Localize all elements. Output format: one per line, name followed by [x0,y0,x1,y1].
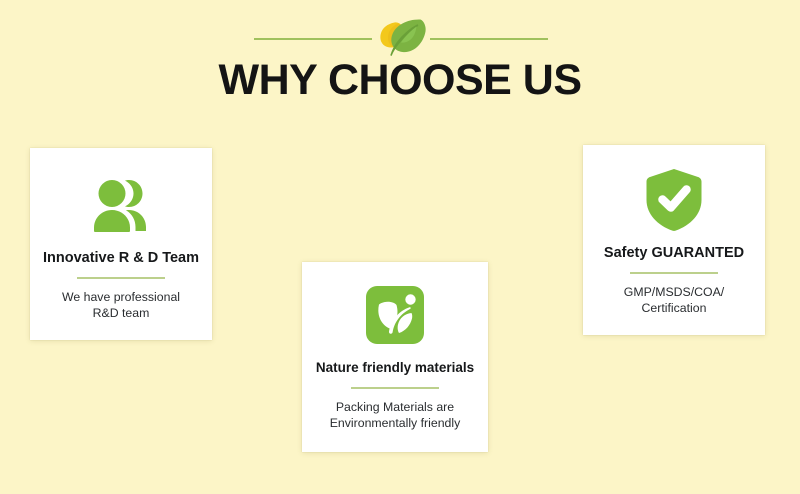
section-ornament [0,14,800,60]
feature-card-innovative-rd-team[interactable]: Innovative R & D Team We have profession… [30,148,212,340]
feature-card-nature-friendly-materials[interactable]: Nature friendly materials Packing Materi… [302,262,488,452]
card-title: Innovative R & D Team [43,249,199,267]
card-title: Nature friendly materials [316,359,474,377]
ornament-line-left [254,38,372,40]
card-description-line: GMP/MSDS/COA/ [624,284,724,300]
card-description: Packing Materials are Environmentally fr… [320,399,471,431]
leaf-ornament-icon [364,14,438,60]
card-divider [351,387,439,389]
card-divider [77,277,165,279]
page-title: WHY CHOOSE US [0,57,800,103]
card-description-line: Certification [624,300,724,316]
shield-check-icon [642,169,706,231]
card-description: We have professional R&D team [52,289,190,321]
feature-card-safety-guaranted[interactable]: Safety GUARANTED GMP/MSDS/COA/ Certifica… [583,145,765,335]
card-description-line: Environmentally friendly [330,415,461,431]
card-title: Safety GUARANTED [604,244,744,262]
card-description-line: Packing Materials are [330,399,461,415]
leaf-eco-icon [366,284,424,346]
why-choose-us-section: WHY CHOOSE US Innovative R & D Team We h… [0,0,800,494]
team-people-icon [85,174,157,236]
card-description-line: R&D team [62,305,180,321]
ornament-line-right [430,38,548,40]
card-description: GMP/MSDS/COA/ Certification [614,284,734,316]
card-description-line: We have professional [62,289,180,305]
card-divider [630,272,718,274]
